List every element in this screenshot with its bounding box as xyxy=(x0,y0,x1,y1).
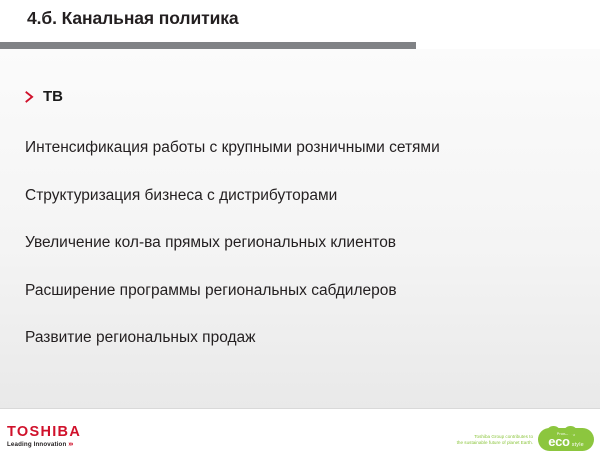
list-item: Расширение программы региональных сабдил… xyxy=(25,280,585,328)
slide-footer: TOSHIBA Leading Innovation ››› Toshiba G… xyxy=(0,408,600,450)
eco-badge-suffix: style xyxy=(572,442,584,448)
tagline-chevrons-icon: ››› xyxy=(68,441,72,448)
list-item: Структуризация бизнеса с дистрибуторами xyxy=(25,185,585,233)
slide-content: ТВ Интенсификация работы с крупными розн… xyxy=(0,49,600,408)
list-item: Развитие региональных продаж xyxy=(25,327,585,375)
brand-tagline-text: Leading Innovation xyxy=(7,441,66,448)
slide: 4.б. Канальная политика ТВ Интенсификаци… xyxy=(0,0,600,450)
eco-statement: Toshiba Group contributes to the sustain… xyxy=(457,434,533,446)
section-heading: ТВ xyxy=(25,88,63,105)
list-item: Интенсификация работы с крупными розничн… xyxy=(25,137,585,185)
slide-header: 4.б. Канальная политика xyxy=(0,0,600,44)
brand-tagline: Leading Innovation ››› xyxy=(7,441,81,449)
eco-statement-line2: the sustainable future of planet Earth. xyxy=(457,440,533,446)
page-title: 4.б. Канальная политика xyxy=(27,8,239,29)
footer-divider xyxy=(0,408,600,409)
eco-badge: Promoting eco style xyxy=(538,428,594,451)
eco-badge-word: eco xyxy=(548,435,570,448)
brand-wordmark: TOSHIBA xyxy=(7,425,81,440)
title-divider-bar xyxy=(0,42,416,49)
eco-badge-main: eco style xyxy=(548,435,584,448)
bullet-list: Интенсификация работы с крупными розничн… xyxy=(25,137,585,375)
list-item: Увеличение кол-ва прямых региональных кл… xyxy=(25,232,585,280)
eco-style-logo: Toshiba Group contributes to the sustain… xyxy=(457,428,594,451)
toshiba-logo: TOSHIBA Leading Innovation ››› xyxy=(7,425,81,449)
section-heading-label: ТВ xyxy=(43,88,63,105)
chevron-right-icon xyxy=(25,90,36,104)
